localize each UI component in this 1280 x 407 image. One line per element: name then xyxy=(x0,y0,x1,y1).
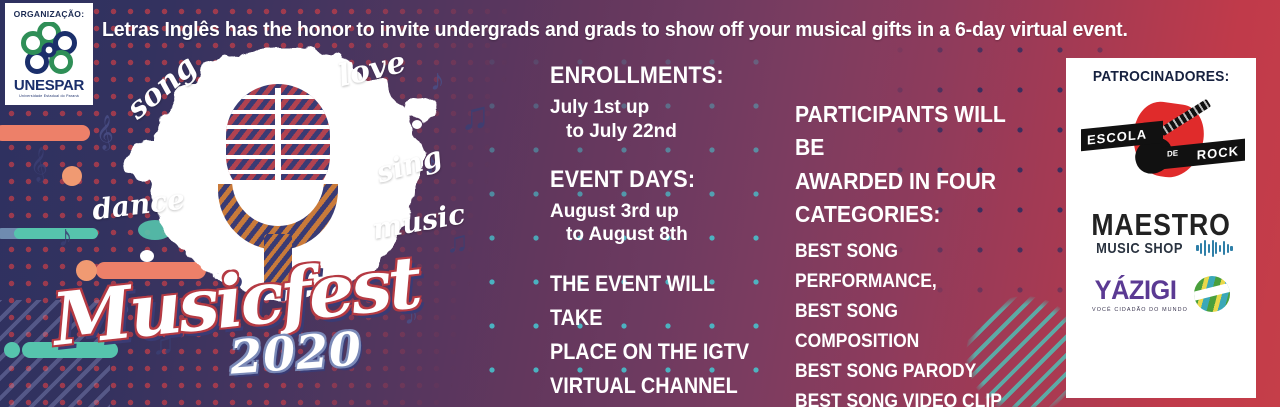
awards-category-list: BEST SONG PERFORMANCE, BEST SONG COMPOSI… xyxy=(795,237,1045,407)
accent-pill-teal-1 xyxy=(14,228,98,239)
music-note-icon: 𝄞 xyxy=(30,150,48,180)
award-category: BEST SONG VIDEO CLIP xyxy=(795,387,1025,407)
maestro-wordmark: MAESTRO xyxy=(1091,207,1230,243)
enrollments-line-1: July 1st up xyxy=(550,97,649,118)
organizer-card: ORGANIZAÇÃO: UNESPAR Universidade Estadu… xyxy=(5,3,93,105)
de-word: DE xyxy=(1167,148,1178,158)
yazigi-wordmark: YÁZIGI xyxy=(1095,275,1177,306)
awards-heading-1: PARTICIPANTS WILL BE xyxy=(795,98,1025,165)
award-category: BEST SONG COMPOSITION xyxy=(795,297,1025,357)
unespar-flower-logo xyxy=(21,22,77,78)
unespar-wordmark: UNESPAR xyxy=(14,78,84,93)
yazigi-logo: YÁZIGI VOCÊ CIDADÃO DO MUNDO xyxy=(1092,275,1230,313)
unespar-tagline: Universidade Estadual do Paraná xyxy=(19,94,79,98)
music-note-icon: 𝄞 xyxy=(96,118,114,148)
award-category: BEST SONG PARODY xyxy=(795,357,1025,387)
award-category: BEST SONG PERFORMANCE, xyxy=(795,237,1025,297)
splash-fleck xyxy=(412,120,422,129)
yazigi-tagline: VOCÊ CIDADÃO DO MUNDO xyxy=(1092,307,1188,313)
music-note-icon: ♫ xyxy=(460,96,490,136)
event-days-line-1: August 3rd up xyxy=(550,201,679,222)
yazigi-globe-icon xyxy=(1194,276,1230,312)
maestro-subtitle: MUSIC SHOP xyxy=(1096,240,1183,257)
channel-line-2: PLACE ON THE IGTV xyxy=(550,335,766,369)
event-days-line-2: to August 8th xyxy=(550,223,790,247)
awards-heading-2: AWARDED IN FOUR xyxy=(795,165,1025,198)
musicfest-logo: Musicfest 2020 xyxy=(52,258,452,388)
channel-line-1: THE EVENT WILL TAKE xyxy=(550,267,766,335)
event-days-dates: August 3rd up to August 8th xyxy=(550,200,790,248)
escola-de-rock-logo: ESCOLA ROCK DE xyxy=(1075,99,1247,191)
music-note-icon: ♪ xyxy=(430,66,445,96)
musicfest-banner: 𝄞 𝄞 ♪ 𝄞 ♫ ♪ ♫ ♪ ♫ ♪ ORGANIZAÇÃO: UNESPAR… xyxy=(0,0,1280,407)
organizer-label: ORGANIZAÇÃO: xyxy=(14,9,85,19)
channel-line-3: VIRTUAL CHANNEL xyxy=(550,369,766,403)
accent-pill-salmon-1 xyxy=(0,125,90,141)
music-note-icon: ♪ xyxy=(58,222,73,252)
sponsors-title: PATROCINADORES: xyxy=(1093,68,1229,85)
enrollments-heading: ENROLLMENTS: xyxy=(550,62,766,90)
accent-dot-salmon-1 xyxy=(62,166,82,186)
instagram-icon xyxy=(379,184,395,200)
dates-column: ENROLLMENTS: July 1st up to July 22nd EV… xyxy=(550,62,790,403)
event-days-heading: EVENT DAYS: xyxy=(550,166,766,194)
channel-info: THE EVENT WILL TAKE PLACE ON THE IGTV VI… xyxy=(550,267,790,403)
musicfest-year: 2020 xyxy=(228,321,363,384)
awards-heading-3: CATEGORIES: xyxy=(795,198,1025,231)
script-word-love: love xyxy=(335,45,409,94)
accent-dot-teal xyxy=(4,342,20,358)
enrollments-dates: July 1st up to July 22nd xyxy=(550,96,790,144)
awards-column: PARTICIPANTS WILL BE AWARDED IN FOUR CAT… xyxy=(795,98,1045,407)
maestro-music-shop-logo: MAESTRO MUSIC SHOP xyxy=(1074,207,1248,257)
enrollments-line-2: to July 22nd xyxy=(550,120,790,144)
sponsors-panel: PATROCINADORES: ESCOLA ROCK DE MAESTRO M… xyxy=(1066,58,1256,398)
headline-text: Letras Inglês has the honor to invite un… xyxy=(102,18,1204,42)
